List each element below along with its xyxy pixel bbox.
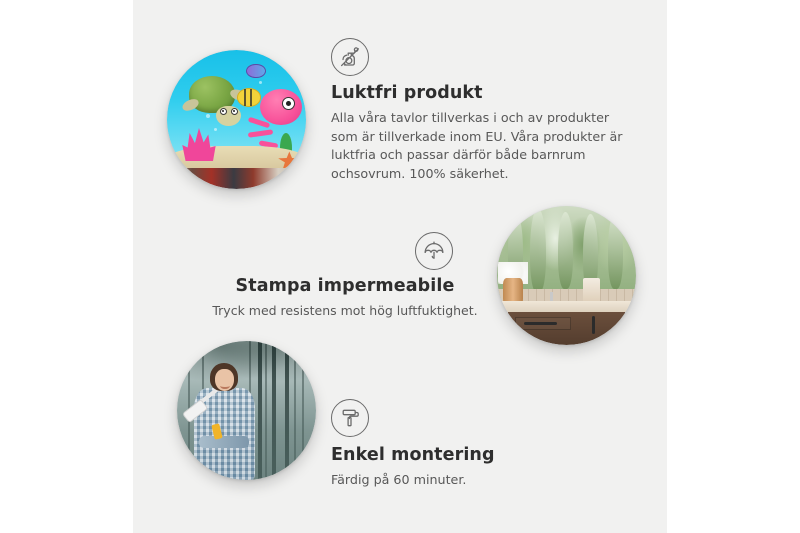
feature-body: Alla våra tavlor tillverkas i och av pro… <box>331 109 631 183</box>
tree-trunk <box>302 341 304 480</box>
feature-block-waterproof: Stampa impermeabile Tryck med resistens … <box>205 232 485 320</box>
woman-smile <box>220 383 230 389</box>
product-feature-infographic: Luktfri produkt Alla våra tavlor tillver… <box>0 0 800 533</box>
octopus-head <box>260 89 302 125</box>
tree-trunk <box>265 341 267 480</box>
feature-image-waterproof <box>497 206 636 345</box>
striped-fish <box>237 88 261 107</box>
feature-block-easy-mounting: Enkel montering Färdig på 60 minuter. <box>331 399 611 490</box>
wallpaper-leaf <box>530 209 545 292</box>
drawer-handle <box>524 322 557 325</box>
feature-block-odourless: Luktfri produkt Alla våra tavlor tillver… <box>331 38 631 183</box>
umbrella-icon <box>415 232 453 270</box>
photo-bottom-strip <box>167 168 306 189</box>
bubble <box>259 81 262 84</box>
feature-title: Stampa impermeabile <box>205 276 485 296</box>
no-fragrance-icon <box>331 38 369 76</box>
tree-trunk <box>285 341 289 480</box>
feature-body: Färdig på 60 minuter. <box>331 471 611 490</box>
feature-title: Luktfri produkt <box>331 83 631 103</box>
feature-title: Enkel montering <box>331 445 611 465</box>
tree-trunk <box>272 341 276 480</box>
paint-roller-icon <box>331 399 369 437</box>
tree-trunk <box>258 341 262 480</box>
feature-image-easy-mounting <box>177 341 316 480</box>
cabinet-handle <box>592 316 595 333</box>
feature-body: Tryck med resistens mot hög luftfuktighe… <box>205 302 485 320</box>
tree-trunk <box>294 341 296 480</box>
wooden-vanity <box>508 312 625 345</box>
crossed-arms <box>199 436 249 449</box>
stone-countertop <box>497 301 636 312</box>
bubble <box>206 114 210 118</box>
feature-image-odourless <box>167 50 306 189</box>
